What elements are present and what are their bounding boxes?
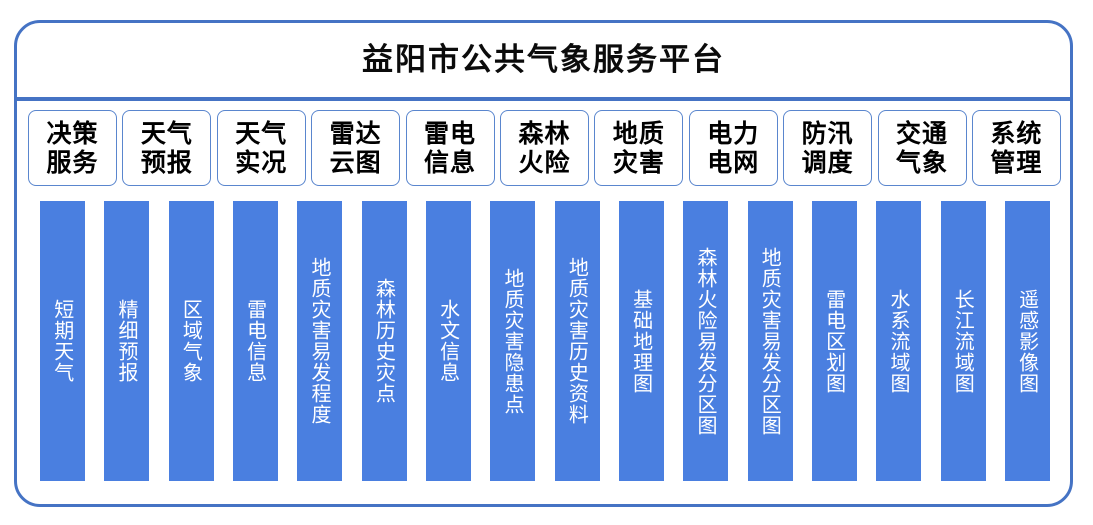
module-column-label: 森林火险易发分区图 — [694, 247, 718, 436]
module-column-label: 雷电信息 — [243, 299, 267, 383]
menu-button-label-line2: 管理 — [990, 148, 1042, 178]
module-column-label: 短期天气 — [50, 299, 74, 383]
module-column-15[interactable]: 遥感影像图 — [1005, 201, 1050, 481]
title-bar: 益阳市公共气象服务平台 — [17, 23, 1070, 97]
menu-button-label-line2: 实况 — [235, 148, 287, 178]
menu-button-label-line1: 雷达 — [330, 119, 382, 149]
menu-button-5[interactable]: 森林火险 — [500, 110, 589, 186]
module-column-5[interactable]: 森林历史灾点 — [362, 201, 407, 481]
module-column-11[interactable]: 地质灾害易发分区图 — [748, 201, 793, 481]
menu-button-label-line1: 决策 — [46, 119, 98, 149]
menu-button-label-line1: 防汛 — [802, 119, 854, 149]
menu-button-label-line2: 服务 — [46, 148, 98, 178]
menu-button-label-line1: 天气 — [141, 119, 193, 149]
menu-button-label-line2: 预报 — [141, 148, 193, 178]
module-column-label: 基础地理图 — [629, 289, 653, 394]
module-column-label: 地质灾害易发分区图 — [758, 247, 782, 436]
menu-button-label-line2: 云图 — [330, 148, 382, 178]
page-title: 益阳市公共气象服务平台 — [362, 45, 725, 76]
module-column-label: 精细预报 — [115, 299, 139, 383]
module-column-7[interactable]: 地质灾害隐患点 — [490, 201, 535, 481]
menu-button-2[interactable]: 天气实况 — [217, 110, 306, 186]
menu-button-6[interactable]: 地质灾害 — [594, 110, 683, 186]
module-column-0[interactable]: 短期天气 — [40, 201, 85, 481]
menu-button-label-line2: 调度 — [802, 148, 854, 178]
screenshot-root: 益阳市公共气象服务平台 决策服务天气预报天气实况雷达云图雷电信息森林火险地质灾害… — [0, 0, 1093, 525]
module-column-12[interactable]: 雷电区划图 — [812, 201, 857, 481]
menu-button-label-line1: 天气 — [235, 119, 287, 149]
menu-button-7[interactable]: 电力电网 — [689, 110, 778, 186]
module-column-14[interactable]: 长江流域图 — [941, 201, 986, 481]
module-column-label: 水文信息 — [436, 299, 460, 383]
module-column-13[interactable]: 水系流域图 — [876, 201, 921, 481]
module-column-2[interactable]: 区域气象 — [169, 201, 214, 481]
menu-button-label-line1: 交通 — [896, 119, 948, 149]
platform-frame: 益阳市公共气象服务平台 决策服务天气预报天气实况雷达云图雷电信息森林火险地质灾害… — [14, 20, 1073, 507]
module-column-label: 水系流域图 — [887, 289, 911, 394]
module-column-label: 地质灾害隐患点 — [501, 268, 525, 415]
module-column-label: 森林历史灾点 — [372, 278, 396, 404]
module-column-9[interactable]: 基础地理图 — [619, 201, 664, 481]
module-column-strip: 短期天气精细预报区域气象雷电信息地质灾害易发程度森林历史灾点水文信息地质灾害隐患… — [40, 201, 1050, 481]
menu-button-label-line2: 火险 — [518, 148, 570, 178]
menu-button-9[interactable]: 交通气象 — [878, 110, 967, 186]
module-column-6[interactable]: 水文信息 — [426, 201, 471, 481]
menu-button-label-line2: 气象 — [896, 148, 948, 178]
module-column-label: 区域气象 — [179, 299, 203, 383]
menu-button-label-line1: 森林 — [518, 119, 570, 149]
menu-button-label-line1: 地质 — [613, 119, 665, 149]
module-column-label: 地质灾害易发程度 — [308, 257, 332, 425]
menu-button-label-line1: 雷电 — [424, 119, 476, 149]
menu-button-label-line2: 电网 — [707, 148, 759, 178]
module-column-label: 雷电区划图 — [822, 289, 846, 394]
main-menu-bar: 决策服务天气预报天气实况雷达云图雷电信息森林火险地质灾害电力电网防汛调度交通气象… — [28, 110, 1061, 186]
menu-button-1[interactable]: 天气预报 — [122, 110, 211, 186]
module-column-label: 地质灾害历史资料 — [565, 257, 589, 425]
menu-button-label-line2: 信息 — [424, 148, 476, 178]
module-column-label: 长江流域图 — [951, 289, 975, 394]
menu-button-label-line2: 灾害 — [613, 148, 665, 178]
menu-button-0[interactable]: 决策服务 — [28, 110, 117, 186]
menu-button-4[interactable]: 雷电信息 — [406, 110, 495, 186]
menu-button-8[interactable]: 防汛调度 — [783, 110, 872, 186]
module-column-4[interactable]: 地质灾害易发程度 — [297, 201, 342, 481]
module-column-10[interactable]: 森林火险易发分区图 — [683, 201, 728, 481]
menu-button-3[interactable]: 雷达云图 — [311, 110, 400, 186]
menu-button-label-line1: 电力 — [707, 119, 759, 149]
menu-button-10[interactable]: 系统管理 — [972, 110, 1061, 186]
title-separator — [14, 97, 1073, 101]
module-column-8[interactable]: 地质灾害历史资料 — [555, 201, 600, 481]
module-column-3[interactable]: 雷电信息 — [233, 201, 278, 481]
module-column-label: 遥感影像图 — [1015, 289, 1039, 394]
menu-button-label-line1: 系统 — [990, 119, 1042, 149]
module-column-1[interactable]: 精细预报 — [104, 201, 149, 481]
